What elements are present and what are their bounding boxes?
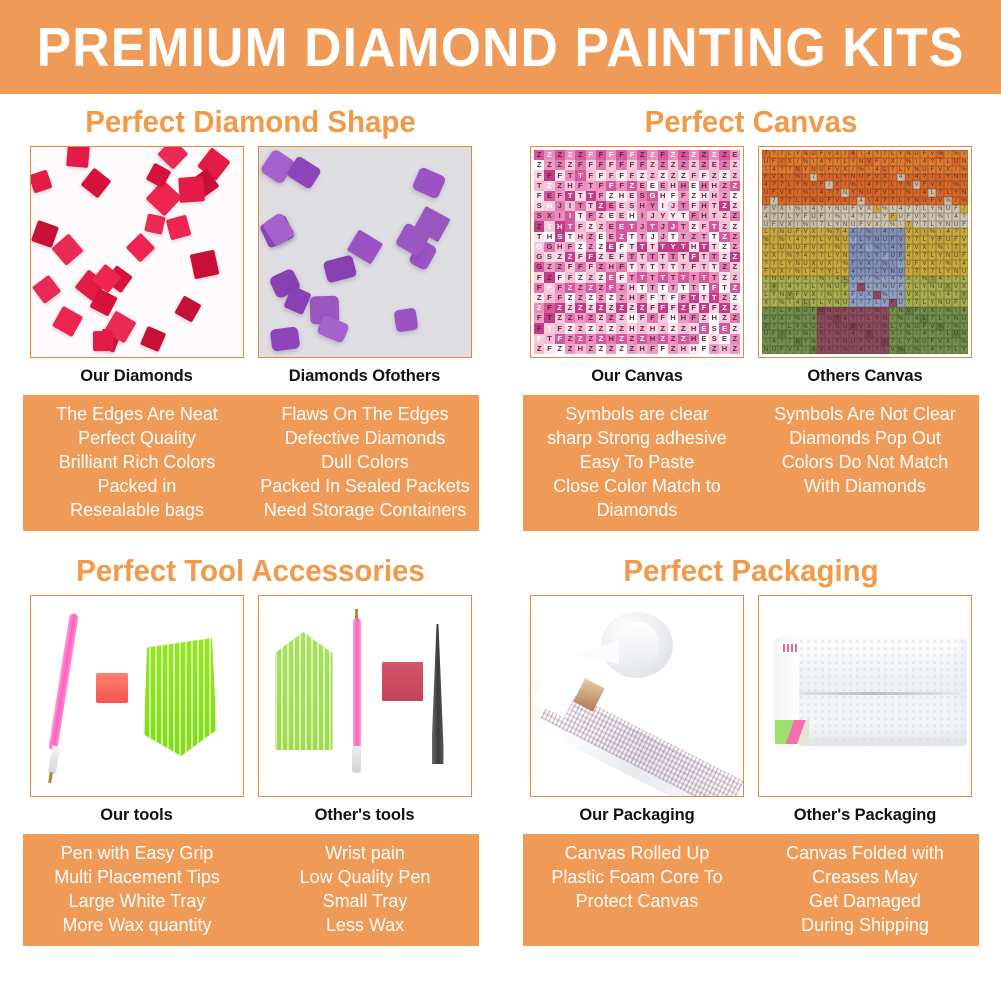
header-banner: PREMIUM DIAMOND PAINTING KITS (0, 0, 1001, 94)
canvas-symbol-cell: U (920, 166, 928, 174)
canvas-symbol-cell: N (778, 228, 786, 236)
canvas-symbol-cell: ? (778, 166, 786, 174)
bullet-line: Defective Diamonds (254, 426, 475, 450)
canvas-symbol-cell: F (658, 303, 668, 313)
canvas-symbol-cell: ? (873, 181, 881, 189)
canvas-symbol-cell: Z (709, 170, 719, 180)
section-title-tools: Perfect Tool Accessories (13, 553, 489, 589)
canvas-symbol-cell: \ (833, 291, 841, 299)
page-title: PREMIUM DIAMOND PAINTING KITS (37, 15, 965, 79)
canvas-symbol-cell: Z (637, 303, 647, 313)
canvas-symbol-cell: Z (689, 232, 699, 242)
canvas-symbol-cell: Y (881, 330, 889, 338)
canvas-symbol-cell: 7 (810, 299, 818, 307)
canvas-symbol-cell: 7 (865, 213, 873, 221)
canvas-symbol-cell: 4 (952, 213, 960, 221)
canvas-symbol-cell: N (952, 315, 960, 323)
canvas-symbol-cell: Z (678, 170, 688, 180)
canvas-symbol-cell: N (833, 236, 841, 244)
canvas-symbol-cell: T (575, 211, 585, 221)
canvas-symbol-cell: Z (668, 150, 678, 160)
canvas-symbol-cell: % (825, 291, 833, 299)
canvas-symbol-cell: / (960, 205, 968, 213)
canvas-symbol-cell: Y (849, 236, 857, 244)
canvas-symbol-cell: ? (817, 205, 825, 213)
canvas-symbol-cell: Z (719, 221, 729, 231)
canvas-symbol-cell: T (647, 272, 657, 282)
canvas-symbol-cell: T (678, 221, 688, 231)
canvas-symbol-cell: \ (762, 166, 770, 174)
diamond-bead (51, 306, 83, 338)
canvas-symbol-cell: \ (936, 291, 944, 299)
canvas-symbol-cell: T (627, 272, 637, 282)
canvas-symbol-cell: F (802, 244, 810, 252)
canvas-symbol-cell: L (936, 174, 944, 182)
canvas-symbol-cell: H (627, 211, 637, 221)
canvas-symbol-cell: N (841, 189, 849, 197)
canvas-symbol-cell: Y (849, 158, 857, 166)
canvas-symbol-cell: 4 (833, 276, 841, 284)
canvas-symbol-cell: T (586, 191, 596, 201)
canvas-symbol-cell: Z (606, 303, 616, 313)
canvas-symbol-cell: X (865, 323, 873, 331)
canvas-symbol-cell: T (709, 201, 719, 211)
canvas-symbol-cell: F (575, 160, 585, 170)
canvas-symbol-cell: / (952, 338, 960, 346)
canvas-symbol-cell: T (586, 201, 596, 211)
canvas-symbol-cell: V (770, 315, 778, 323)
canvas-symbol-cell: F (616, 242, 626, 252)
canvas-symbol-cell: ? (770, 150, 778, 158)
canvas-symbol-cell: Z (575, 334, 585, 344)
canvas-symbol-cell: F (555, 272, 565, 282)
canvas-symbol-cell: 7 (810, 236, 818, 244)
canvas-symbol-cell: Y (928, 299, 936, 307)
canvas-symbol-cell: \ (778, 283, 786, 291)
canvas-symbol-cell: N (833, 299, 841, 307)
canvas-symbol-cell: % (944, 197, 952, 205)
canvas-symbol-cell: F (668, 293, 678, 303)
canvas-symbol-cell: ? (952, 291, 960, 299)
canvas-symbol-cell: / (794, 189, 802, 197)
canvas-symbol-cell: Z (596, 283, 606, 293)
canvas-symbol-cell: L (857, 236, 865, 244)
canvas-symbol-cell: V (857, 291, 865, 299)
canvas-symbol-cell: E (616, 211, 626, 221)
canvas-symbol-cell: F (699, 344, 709, 354)
canvas-symbol-cell: Z (730, 221, 740, 231)
canvas-symbol-cell: L (897, 338, 905, 346)
canvas-symbol-cell: L (873, 268, 881, 276)
canvas-symbol-cell: \ (810, 221, 818, 229)
canvas-symbol-cell: F (678, 293, 688, 303)
canvas-symbol-cell: Z (534, 344, 544, 354)
canvas-symbol-cell: T (658, 242, 668, 252)
canvas-symbol-cell: \ (865, 166, 873, 174)
canvas-symbol-cell: X (833, 150, 841, 158)
canvas-symbol-cell: Y (770, 228, 778, 236)
bullet-line: Creases May (754, 865, 975, 889)
canvas-symbol-cell: 7 (905, 221, 913, 229)
canvas-symbol-cell: F (606, 283, 616, 293)
canvas-symbol-cell: F (544, 293, 554, 303)
canvas-symbol-cell: N (802, 150, 810, 158)
canvas-symbol-cell: X (889, 189, 897, 197)
other-pink-pen-icon (353, 618, 361, 750)
diamond-bead (30, 169, 53, 193)
mailer-label-mark (783, 644, 797, 652)
canvas-symbol-cell: L (778, 307, 786, 315)
red-bead-scatter (31, 147, 243, 357)
canvas-symbol-cell: V (786, 291, 794, 299)
canvas-symbol-cell: X (786, 221, 794, 229)
canvas-symbol-cell: \ (905, 174, 913, 182)
canvas-symbol-cell: Y (802, 197, 810, 205)
canvas-symbol-cell: 4 (849, 268, 857, 276)
canvas-symbol-cell: U (881, 236, 889, 244)
canvas-symbol-cell: 4 (802, 252, 810, 260)
canvas-symbol-cell: N (825, 307, 833, 315)
canvas-symbol-cell: X (778, 174, 786, 182)
caption-our-packaging: Our Packaging (527, 806, 747, 825)
caption-other-tools: Other's tools (255, 806, 475, 825)
canvas-symbol-cell: F (616, 252, 626, 262)
canvas-symbol-cell: F (689, 211, 699, 221)
canvas-symbol-cell: F (647, 293, 657, 303)
canvas-symbol-cell: Y (873, 315, 881, 323)
canvas-symbol-cell: G (647, 191, 657, 201)
canvas-symbol-cell: U (889, 283, 897, 291)
canvas-symbol-cell: E (606, 272, 616, 282)
canvas-symbol-cell: F (817, 213, 825, 221)
canvas-symbol-cell: Y (928, 236, 936, 244)
canvas-symbol-cell: T (678, 252, 688, 262)
canvas-symbol-cell: / (762, 283, 770, 291)
canvas-symbol-cell: \ (889, 260, 897, 268)
canvas-symbol-cell: H (699, 211, 709, 221)
canvas-symbol-cell: Z (575, 150, 585, 160)
canvas-symbol-cell: F (606, 160, 616, 170)
canvas-symbol-cell: 4 (841, 291, 849, 299)
canvas-symbol-cell: Z (586, 344, 596, 354)
canvas-symbol-cell: F (637, 160, 647, 170)
canvas-symbol-cell: Z (627, 303, 637, 313)
canvas-symbol-cell: \ (786, 299, 794, 307)
canvas-symbol-cell: T (565, 191, 575, 201)
muddy-symbol-canvas-photo: 7?7LYNUFVX/4\4?7LYNUFV%/%\UF/X/%\4?7LYNV… (758, 146, 972, 358)
folded-canvas-peek (775, 720, 809, 744)
others-canvas-symbol-grid: 7?7LYNUFVX/4\4?7LYNUFV%/%\UF/X/%\4?7LYNV… (762, 150, 968, 354)
canvas-symbol-cell: / (944, 181, 952, 189)
canvas-symbol-cell: % (778, 299, 786, 307)
canvas-symbol-cell: 4 (928, 346, 936, 354)
canvas-symbol-cell: V (913, 244, 921, 252)
canvas-symbol-cell: Z (699, 160, 709, 170)
deformed-diamond-bead (269, 326, 300, 351)
canvas-symbol-cell: ? (825, 189, 833, 197)
canvas-symbol-cell: U (810, 323, 818, 331)
canvas-symbol-cell: U (913, 150, 921, 158)
canvas-symbol-cell: L (786, 213, 794, 221)
canvas-symbol-cell: U (889, 252, 897, 260)
canvas-symbol-cell: T (565, 232, 575, 242)
canvas-symbol-cell: Z (730, 252, 740, 262)
canvas-symbol-cell: Y (905, 338, 913, 346)
canvas-symbol-cell: L (825, 221, 833, 229)
canvas-symbol-cell: / (881, 221, 889, 229)
canvas-symbol-cell: N (833, 205, 841, 213)
canvas-symbol-cell: Y (802, 166, 810, 174)
canvas-symbol-cell: 7 (865, 299, 873, 307)
canvas-symbol-cell: X (786, 330, 794, 338)
canvas-symbol-cell: H (544, 201, 554, 211)
canvas-symbol-cell: L (825, 252, 833, 260)
canvas-symbol-cell: N (849, 174, 857, 182)
canvas-symbol-cell: L (778, 260, 786, 268)
rolled-canvas-tube-photo (530, 595, 744, 797)
canvas-symbol-cell: F (825, 166, 833, 174)
canvas-symbol-cell: % (802, 158, 810, 166)
canvas-symbol-cell: Z (730, 344, 740, 354)
bullet-line: Brilliant Rich Colors (26, 450, 247, 474)
bullet-line: Resealable bags (26, 498, 247, 522)
canvas-symbol-cell: Z (606, 293, 616, 303)
canvas-symbol-cell: L (920, 299, 928, 307)
canvas-symbol-cell: ? (960, 244, 968, 252)
canvas-symbol-cell: 7 (778, 323, 786, 331)
diamond-bead (178, 177, 204, 203)
canvas-symbol-cell: / (833, 346, 841, 354)
canvas-symbol-cell: Z (730, 211, 740, 221)
canvas-symbol-cell: I (658, 201, 668, 211)
canvas-symbol-cell: F (849, 205, 857, 213)
canvas-symbol-cell: T (637, 262, 647, 272)
canvas-symbol-cell: Z (689, 221, 699, 231)
canvas-symbol-cell: Z (544, 150, 554, 160)
canvas-symbol-cell: / (786, 315, 794, 323)
canvas-symbol-cell: L (920, 315, 928, 323)
bullet-line: Flaws On The Edges (254, 402, 475, 426)
canvas-symbol-cell: V (913, 213, 921, 221)
canvas-symbol-cell: Z (668, 170, 678, 180)
canvas-symbol-cell: G (534, 242, 544, 252)
canvas-symbol-cell: V (762, 252, 770, 260)
canvas-symbol-cell: J (658, 221, 668, 231)
canvas-symbol-cell: U (920, 197, 928, 205)
canvas-symbol-cell: Y (794, 323, 802, 331)
canvas-symbol-cell: X (889, 330, 897, 338)
canvas-symbol-cell: / (913, 276, 921, 284)
canvas-symbol-cell: S (709, 334, 719, 344)
canvas-symbol-cell: Z (637, 334, 647, 344)
canvas-symbol-cell: F (586, 170, 596, 180)
canvas-symbol-cell: T (544, 313, 554, 323)
canvas-symbol-cell: G (534, 262, 544, 272)
canvas-symbol-cell: N (794, 338, 802, 346)
deformed-diamond-bead (316, 314, 349, 343)
canvas-symbol-cell: L (786, 150, 794, 158)
canvas-symbol-cell: L (920, 236, 928, 244)
bullets-our-packaging: Canvas Rolled UpPlastic Foam Core ToProt… (526, 841, 747, 937)
canvas-symbol-cell: T (678, 262, 688, 272)
canvas-symbol-cell: T (678, 211, 688, 221)
canvas-symbol-cell: 7 (786, 197, 794, 205)
canvas-symbol-cell: F (873, 189, 881, 197)
canvas-symbol-cell: V (817, 346, 825, 354)
pink-pen-icon (48, 613, 78, 751)
canvas-symbol-cell: E (709, 160, 719, 170)
canvas-symbol-cell: L (865, 315, 873, 323)
canvas-symbol-cell: / (794, 221, 802, 229)
canvas-symbol-cell: \ (960, 323, 968, 331)
canvas-symbol-cell: ? (794, 252, 802, 260)
canvas-symbol-cell: V (873, 174, 881, 182)
canvas-symbol-cell: Z (596, 344, 606, 354)
canvas-symbol-cell: Z (565, 344, 575, 354)
canvas-symbol-cell: X (778, 315, 786, 323)
canvas-symbol-cell: N (786, 244, 794, 252)
canvas-symbol-cell: 7 (833, 158, 841, 166)
canvas-symbol-cell: H (555, 242, 565, 252)
canvas-symbol-cell: % (794, 174, 802, 182)
canvas-symbol-cell: F (889, 236, 897, 244)
canvas-symbol-cell: T (637, 252, 647, 262)
canvas-symbol-cell: H (709, 313, 719, 323)
canvas-symbol-cell: / (920, 291, 928, 299)
canvas-symbol-cell: X (786, 189, 794, 197)
canvas-symbol-cell: V (778, 221, 786, 229)
canvas-symbol-cell: T (627, 221, 637, 231)
canvas-symbol-cell: Z (647, 170, 657, 180)
canvas-symbol-cell: Z (627, 344, 637, 354)
canvas-symbol-cell: U (817, 197, 825, 205)
bullet-line: Close Color Match to (526, 474, 747, 498)
canvas-symbol-cell: H (637, 201, 647, 211)
canvas-symbol-cell: F (920, 181, 928, 189)
canvas-symbol-cell: N (928, 283, 936, 291)
canvas-symbol-cell: 4 (849, 213, 857, 221)
canvas-symbol-cell: Z (689, 150, 699, 160)
canvas-symbol-cell: 4 (960, 307, 968, 315)
canvas-symbol-cell: F (960, 252, 968, 260)
canvas-symbol-cell: % (794, 205, 802, 213)
canvas-symbol-cell: E (647, 181, 657, 191)
canvas-symbol-cell: F (841, 283, 849, 291)
other-pen-needle-icon (355, 609, 358, 619)
canvas-symbol-cell: \ (873, 228, 881, 236)
canvas-symbol-cell: 7 (857, 252, 865, 260)
canvas-symbol-cell: Z (730, 313, 740, 323)
canvas-symbol-cell: / (928, 244, 936, 252)
canvas-symbol-cell: E (616, 221, 626, 231)
canvas-symbol-cell: ? (952, 228, 960, 236)
canvas-symbol-cell: T (637, 283, 647, 293)
canvas-symbol-cell: % (794, 315, 802, 323)
canvas-symbol-cell: L (873, 213, 881, 221)
canvas-symbol-cell: Z (616, 303, 626, 313)
canvas-symbol-cell: / (889, 315, 897, 323)
canvas-symbol-cell: \ (849, 346, 857, 354)
canvas-symbol-cell: ? (928, 330, 936, 338)
canvas-symbol-cell: X (786, 158, 794, 166)
canvas-symbol-cell: \ (802, 205, 810, 213)
canvas-symbol-cell: X (849, 323, 857, 331)
canvas-symbol-cell: 4 (817, 158, 825, 166)
canvas-symbol-cell: V (865, 221, 873, 229)
canvas-symbol-cell: Y (905, 197, 913, 205)
canvas-symbol-cell: / (889, 174, 897, 182)
canvas-symbol-cell: / (794, 158, 802, 166)
canvas-symbol-cell: Y (873, 252, 881, 260)
canvas-symbol-cell: T (699, 293, 709, 303)
canvas-symbol-cell: H (627, 313, 637, 323)
canvas-symbol-cell: F (699, 303, 709, 313)
canvas-symbol-cell: Z (586, 283, 596, 293)
canvas-symbol-cell: Z (719, 201, 729, 211)
deformed-diamond-bead (394, 307, 419, 332)
canvas-symbol-cell: T (668, 283, 678, 293)
canvas-symbol-cell: / (786, 268, 794, 276)
canvas-symbol-cell: L (817, 236, 825, 244)
canvas-symbol-cell: F (637, 293, 647, 303)
canvas-symbol-cell: % (825, 315, 833, 323)
canvas-symbol-cell: X (841, 166, 849, 174)
canvas-symbol-cell: V (794, 276, 802, 284)
canvas-symbol-cell: U (810, 150, 818, 158)
canvas-symbol-cell: V (865, 158, 873, 166)
canvas-symbol-cell: 7 (936, 189, 944, 197)
canvas-symbol-cell: \ (857, 150, 865, 158)
canvas-symbol-cell: F (889, 299, 897, 307)
canvas-symbol-cell: % (833, 213, 841, 221)
canvas-symbol-cell: \ (905, 268, 913, 276)
canvas-symbol-cell: E (606, 252, 616, 262)
canvas-symbol-cell: / (817, 291, 825, 299)
canvas-symbol-cell: 7 (817, 338, 825, 346)
canvas-symbol-cell: ? (913, 221, 921, 229)
caption-others-canvas: Others Canvas (755, 367, 975, 386)
canvas-symbol-cell: / (778, 330, 786, 338)
canvas-symbol-cell: X (810, 228, 818, 236)
canvas-symbol-cell: V (857, 323, 865, 331)
canvas-symbol-cell: / (825, 330, 833, 338)
canvas-symbol-cell: Z (637, 170, 647, 180)
canvas-symbol-cell: U (802, 307, 810, 315)
canvas-symbol-cell: Z (586, 242, 596, 252)
canvas-symbol-cell: \ (905, 315, 913, 323)
canvas-symbol-cell: Z (555, 160, 565, 170)
canvas-symbol-cell: H (668, 181, 678, 191)
canvas-symbol-cell: L (873, 299, 881, 307)
canvas-symbol-cell: F (762, 268, 770, 276)
canvas-symbol-cell: X (944, 338, 952, 346)
canvas-symbol-cell: ? (897, 244, 905, 252)
canvas-symbol-cell: L (913, 283, 921, 291)
canvas-symbol-cell: N (913, 197, 921, 205)
canvas-symbol-cell: N (897, 307, 905, 315)
canvas-symbol-cell: L (810, 283, 818, 291)
canvas-symbol-cell: V (881, 189, 889, 197)
canvas-symbol-cell: T (709, 262, 719, 272)
canvas-symbol-cell: 4 (794, 236, 802, 244)
canvas-symbol-cell: 4 (889, 276, 897, 284)
canvas-symbol-cell: \ (786, 236, 794, 244)
canvas-symbol-cell: % (936, 244, 944, 252)
canvas-symbol-cell: F (616, 181, 626, 191)
canvas-symbol-cell: ? (936, 346, 944, 354)
canvas-symbol-cell: Z (596, 334, 606, 344)
canvas-symbol-cell: 7 (873, 346, 881, 354)
